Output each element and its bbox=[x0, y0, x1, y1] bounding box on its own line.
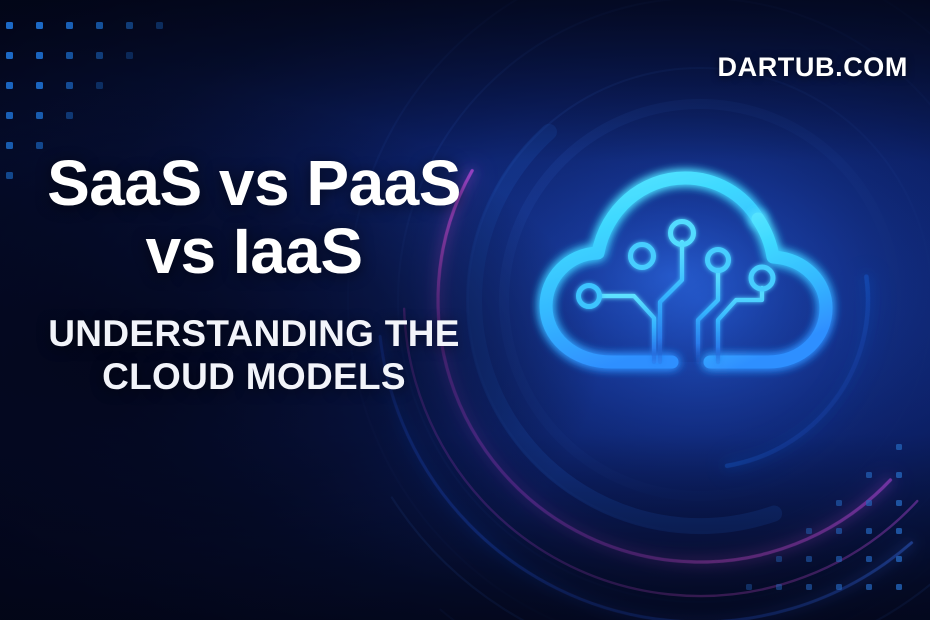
title-block: SaaS vs PaaS vs IaaS UNDERSTANDING THE C… bbox=[8, 150, 500, 399]
watermark-brand: DARTUB.COM bbox=[718, 52, 908, 83]
page-title: SaaS vs PaaS vs IaaS bbox=[8, 150, 500, 286]
cloud-circuit-icon bbox=[530, 130, 890, 450]
poster-canvas: DARTUB.COM SaaS vs PaaS vs IaaS UNDERSTA… bbox=[0, 0, 930, 620]
page-subtitle: UNDERSTANDING THE CLOUD MODELS bbox=[8, 312, 500, 399]
